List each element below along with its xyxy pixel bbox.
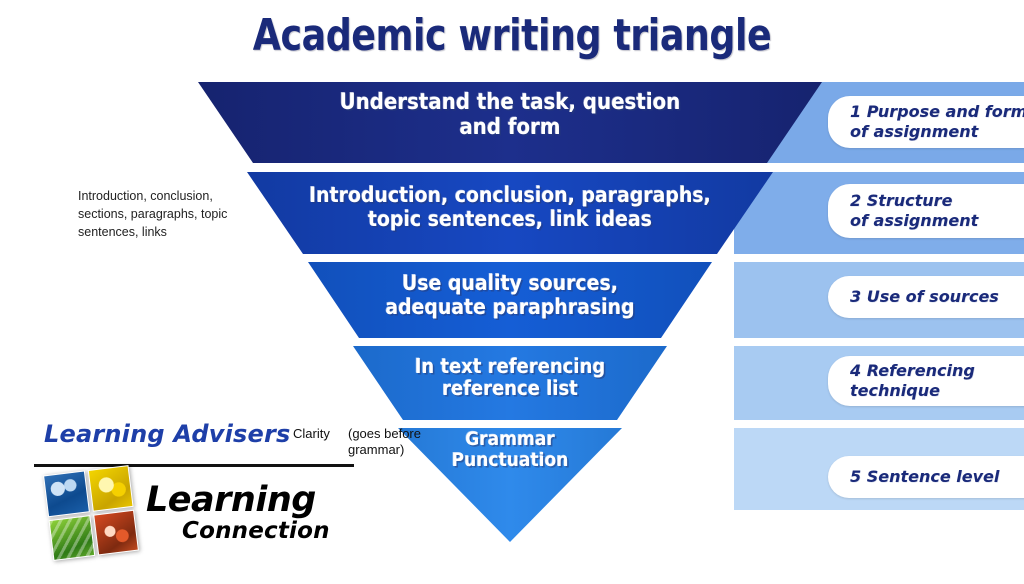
right-pill-label-3: 3 Use of sources [850, 287, 999, 307]
learning-connection-logo: Learning Connection [34, 462, 334, 572]
logo-photo-grid-icon [43, 465, 139, 561]
logo-tile-blue [43, 471, 89, 517]
right-pill-2[interactable]: 2 Structure of assignment [828, 184, 1024, 238]
right-pill-1[interactable]: 1 Purpose and form of assignment [828, 96, 1024, 148]
logo-tile-red [93, 509, 139, 555]
clarity-aside: (goes before grammar) [348, 426, 438, 459]
left-annotation-structure: Introduction, conclusion, sections, para… [78, 187, 263, 241]
right-pill-label-1: 1 Purpose and form of assignment [850, 102, 1024, 141]
slide-canvas: Understand the task, question and form I… [0, 0, 1024, 584]
right-pill-4[interactable]: 4 Referencing technique [828, 356, 1024, 406]
logo-text-connection: Connection [182, 518, 330, 544]
triangle-band-4 [353, 346, 667, 420]
triangle-band-2 [247, 172, 773, 254]
triangle-band-1 [198, 82, 822, 163]
learning-advisers-heading: Learning Advisers [44, 420, 291, 448]
logo-tile-yellow [87, 465, 133, 511]
right-pill-label-5: 5 Sentence level [850, 467, 999, 487]
right-pill-label-4: 4 Referencing technique [850, 361, 975, 400]
triangle-band-3 [308, 262, 712, 338]
page-title: Academic writing triangle [41, 10, 983, 61]
logo-text-learning: Learning [146, 480, 316, 520]
right-pill-label-2: 2 Structure of assignment [850, 191, 978, 230]
clarity-label: Clarity [293, 426, 330, 442]
right-pill-3[interactable]: 3 Use of sources [828, 276, 1024, 318]
logo-tile-green [49, 515, 95, 561]
right-pill-5[interactable]: 5 Sentence level [828, 456, 1024, 498]
